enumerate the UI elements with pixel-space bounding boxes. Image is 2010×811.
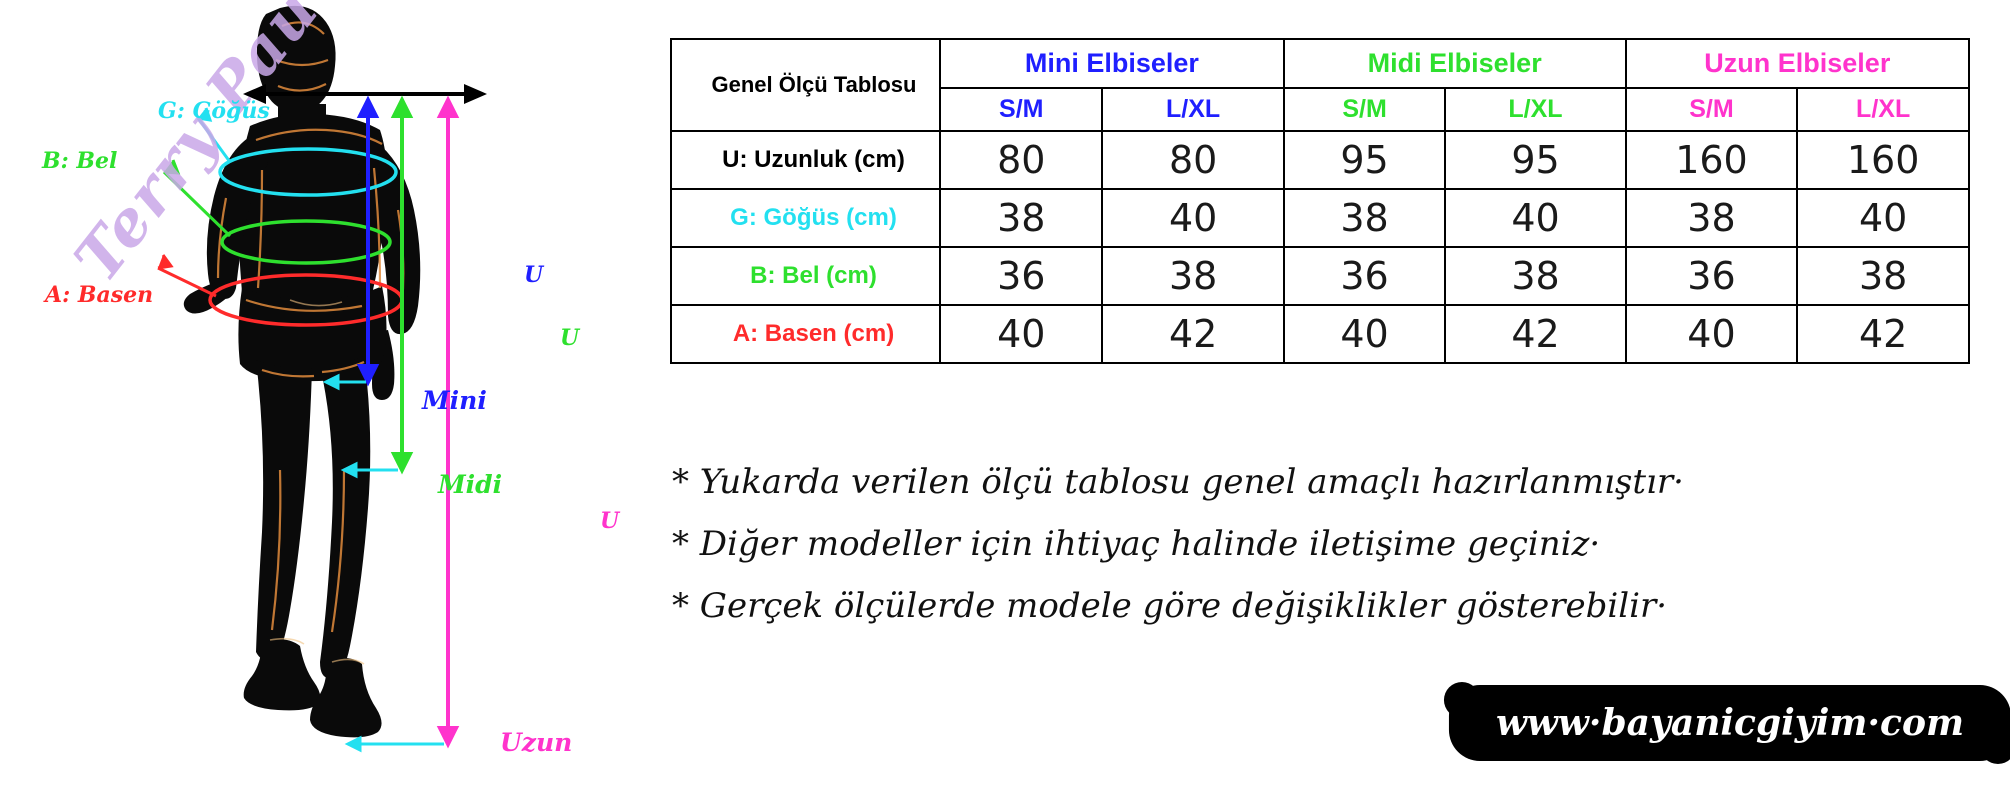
note-item: * Gerçek ölçülerde modele göre değişikli… (672, 586, 2002, 626)
axis-mark-uzun: U (600, 508, 619, 534)
label-mini: Mini (422, 386, 487, 415)
label-midi: Midi (438, 470, 502, 499)
category-header-midi: Midi Elbiseler (1284, 39, 1626, 88)
cell-gogus-uzun-sm: 38 (1626, 189, 1798, 247)
label-gogus: G: Göğüs (158, 98, 270, 124)
cell-gogus-mini-sm: 38 (940, 189, 1102, 247)
cell-uzunluk-uzun-sm: 160 (1626, 131, 1798, 189)
website-badge[interactable]: www·bayanicgiyim·com (1454, 690, 2006, 756)
category-header-mini: Mini Elbiseler (940, 39, 1284, 88)
size-header-mini-lxl: L/XL (1102, 88, 1283, 131)
cell-uzunluk-uzun-lxl: 160 (1797, 131, 1969, 189)
cell-basen-midi-sm: 40 (1284, 305, 1446, 363)
table-header-row-categories: Genel Ölçü Tablosu Mini Elbiseler Midi E… (671, 39, 1969, 88)
label-basen: A: Basen (45, 282, 153, 308)
cell-bel-mini-lxl: 38 (1102, 247, 1283, 305)
cell-basen-mini-lxl: 42 (1102, 305, 1283, 363)
table-row: B: Bel (cm) 36 38 36 38 36 38 (671, 247, 1969, 305)
cell-gogus-uzun-lxl: 40 (1797, 189, 1969, 247)
cell-basen-uzun-lxl: 42 (1797, 305, 1969, 363)
size-header-mini-sm: S/M (940, 88, 1102, 131)
cell-gogus-midi-lxl: 40 (1445, 189, 1625, 247)
cell-bel-uzun-lxl: 38 (1797, 247, 1969, 305)
illustration-panel: Terry Pau G: Göğüs B: Bel A: Basen Mini … (0, 0, 660, 811)
cell-bel-midi-sm: 36 (1284, 247, 1446, 305)
cell-basen-uzun-sm: 40 (1626, 305, 1798, 363)
size-header-uzun-sm: S/M (1626, 88, 1798, 131)
row-label-uzunluk: U: Uzunluk (cm) (671, 131, 940, 189)
row-label-gogus: G: Göğüs (cm) (671, 189, 940, 247)
cell-uzunluk-midi-sm: 95 (1284, 131, 1446, 189)
size-table: Genel Ölçü Tablosu Mini Elbiseler Midi E… (670, 38, 1970, 364)
label-bel: B: Bel (42, 148, 117, 174)
table-row: U: Uzunluk (cm) 80 80 95 95 160 160 (671, 131, 1969, 189)
cell-uzunluk-mini-sm: 80 (940, 131, 1102, 189)
note-item: * Diğer modeller için ihtiyaç halinde il… (672, 524, 2002, 564)
row-label-bel: B: Bel (cm) (671, 247, 940, 305)
axis-mark-midi: U (560, 325, 579, 351)
table-row: G: Göğüs (cm) 38 40 38 40 38 40 (671, 189, 1969, 247)
label-uzun: Uzun (500, 728, 572, 757)
table-corner-label: Genel Ölçü Tablosu (671, 39, 940, 131)
table-row: A: Basen (cm) 40 42 40 42 40 42 (671, 305, 1969, 363)
info-panel: Genel Ölçü Tablosu Mini Elbiseler Midi E… (662, 0, 2010, 811)
cell-basen-midi-lxl: 42 (1445, 305, 1625, 363)
cell-bel-midi-lxl: 38 (1445, 247, 1625, 305)
size-header-midi-sm: S/M (1284, 88, 1446, 131)
axis-mark-mini: U (524, 262, 543, 288)
note-item: * Yukarda verilen ölçü tablosu genel ama… (672, 462, 2002, 502)
row-label-basen: A: Basen (cm) (671, 305, 940, 363)
cell-basen-mini-sm: 40 (940, 305, 1102, 363)
cell-gogus-midi-sm: 38 (1284, 189, 1446, 247)
uzun-hem-leader (348, 738, 444, 750)
category-header-uzun: Uzun Elbiseler (1626, 39, 1969, 88)
cell-bel-uzun-sm: 36 (1626, 247, 1798, 305)
cell-uzunluk-midi-lxl: 95 (1445, 131, 1625, 189)
notes-list: * Yukarda verilen ölçü tablosu genel ama… (672, 462, 2002, 648)
cell-bel-mini-sm: 36 (940, 247, 1102, 305)
size-header-uzun-lxl: L/XL (1797, 88, 1969, 131)
size-header-midi-lxl: L/XL (1445, 88, 1625, 131)
cell-uzunluk-mini-lxl: 80 (1102, 131, 1283, 189)
size-chart-page: Terry Pau G: Göğüs B: Bel A: Basen Mini … (0, 0, 2010, 811)
midi-hem-leader (344, 464, 398, 476)
cell-gogus-mini-lxl: 40 (1102, 189, 1283, 247)
